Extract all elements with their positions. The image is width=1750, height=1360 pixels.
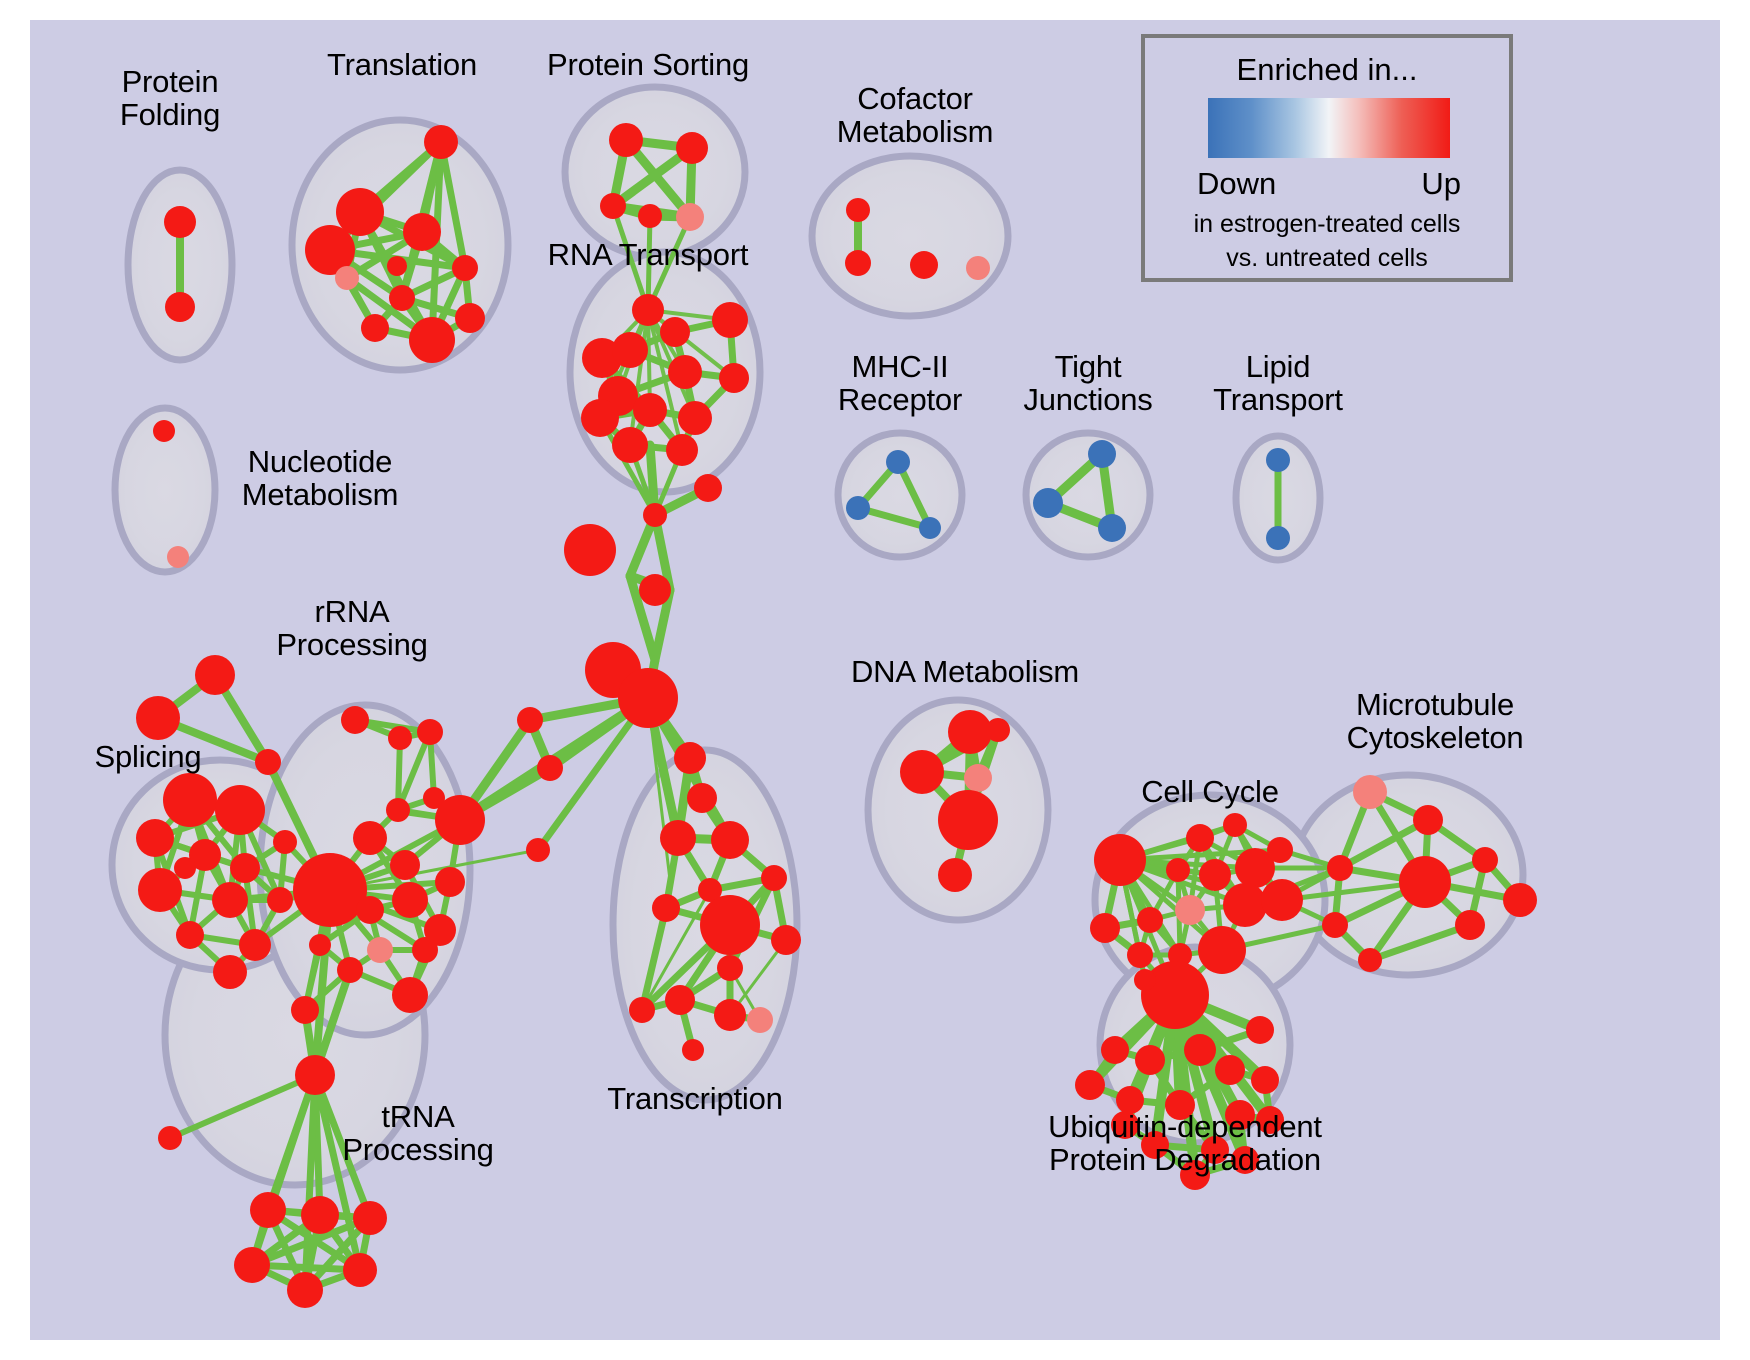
cluster-label-lipid-transport: Lipid Transport [1213, 350, 1343, 416]
cluster-label-transcription: Transcription [607, 1082, 782, 1115]
cluster-label-cell-cycle: Cell Cycle [1141, 775, 1279, 808]
cluster-label-microtubule-cytoskeleton: Microtubule Cytoskeleton [1347, 688, 1524, 754]
cluster-label-cofactor-metabolism: Cofactor Metabolism [837, 82, 994, 148]
cluster-label-trna-processing: tRNA Processing [342, 1100, 493, 1166]
cluster-ellipse-cofactor-metabolism [812, 156, 1008, 316]
cluster-label-protein-folding: Protein Folding [120, 65, 220, 131]
cluster-label-mhc-ii-receptor: MHC-II Receptor [838, 350, 962, 416]
figure-root: Protein Folding Translation Protein Sort… [0, 0, 1750, 1360]
network-canvas: Protein Folding Translation Protein Sort… [30, 20, 1720, 1340]
legend-high-label: Up [1421, 166, 1461, 202]
cluster-label-rrna-processing: rRNA Processing [276, 595, 427, 661]
cluster-label-protein-sorting: Protein Sorting [547, 48, 749, 81]
legend-box: Enriched in... Down Up in estrogen-treat… [1141, 34, 1513, 282]
legend-color-gradient-bar [1208, 98, 1450, 158]
legend-title: Enriched in... [1145, 52, 1509, 88]
legend-low-label: Down [1197, 166, 1276, 202]
cluster-label-nucleotide-metabolism: Nucleotide Metabolism [242, 445, 399, 511]
cluster-label-translation: Translation [327, 48, 477, 81]
cluster-label-ubiquitin-degradation: Ubiquitin-dependent Protein Degradation [1048, 1110, 1322, 1176]
cluster-label-tight-junctions: Tight Junctions [1023, 350, 1152, 416]
cluster-label-rna-transport: RNA Transport [548, 238, 749, 271]
legend-caption-line1: in estrogen-treated cells [1145, 210, 1509, 239]
cluster-label-splicing: Splicing [95, 740, 202, 773]
cluster-label-dna-metabolism: DNA Metabolism [851, 655, 1079, 688]
legend-caption-line2: vs. untreated cells [1145, 244, 1509, 273]
